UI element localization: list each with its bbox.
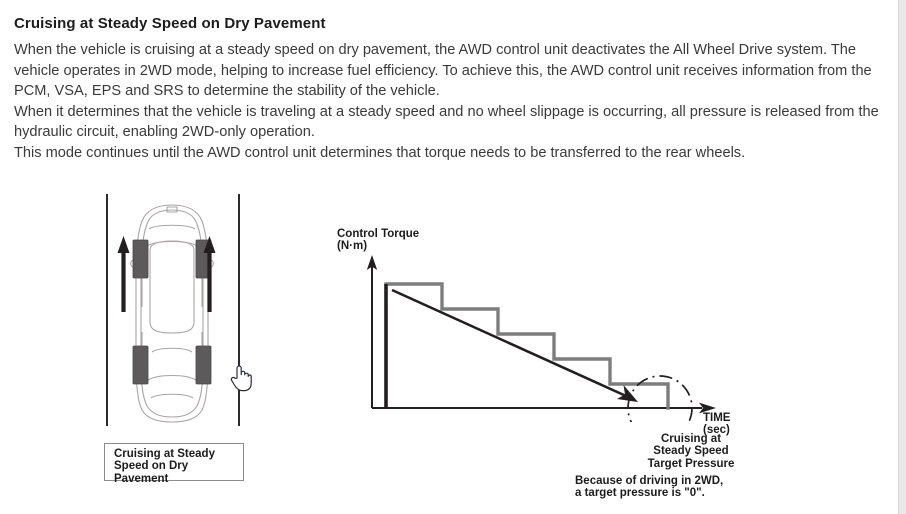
lane-line-left <box>106 194 108 426</box>
y-axis <box>367 255 377 408</box>
pointing-hand-cursor-icon <box>230 364 252 392</box>
up-arrow-icon-left <box>117 236 130 312</box>
road-figure <box>96 188 256 432</box>
body-copy: When the vehicle is cruising at a steady… <box>14 40 894 163</box>
control-torque-chart <box>330 222 750 422</box>
target-pressure-caption: Cruising at Steady Speed Target Pressure <box>616 433 766 470</box>
paragraph-1: When the vehicle is cruising at a steady… <box>14 40 894 102</box>
wheel-group <box>133 240 211 384</box>
torque-trend-arrow <box>392 290 638 402</box>
up-arrow-icon-right <box>203 236 216 312</box>
wheel-rear-left <box>133 346 148 384</box>
paragraph-3: This mode continues until the AWD contro… <box>14 143 894 164</box>
page-title: Cruising at Steady Speed on Dry Pavement <box>14 15 326 32</box>
paragraph-2: When it determines that the vehicle is t… <box>14 102 894 143</box>
zero-pressure-note: Because of driving in 2WD, a target pres… <box>575 475 775 500</box>
document-page: Cruising at Steady Speed on Dry Pavement… <box>0 0 898 514</box>
page-right-edge <box>898 0 906 514</box>
road-caption-box: Cruising at Steady Speed on Dry Pavement <box>104 443 244 481</box>
wheel-front-left <box>133 240 148 278</box>
x-axis <box>372 403 716 414</box>
wheel-rear-right <box>196 346 211 384</box>
road-caption-text: Cruising at Steady Speed on Dry Pavement <box>114 448 215 485</box>
chart-figure: Control Torque (N·m) <box>330 222 750 507</box>
